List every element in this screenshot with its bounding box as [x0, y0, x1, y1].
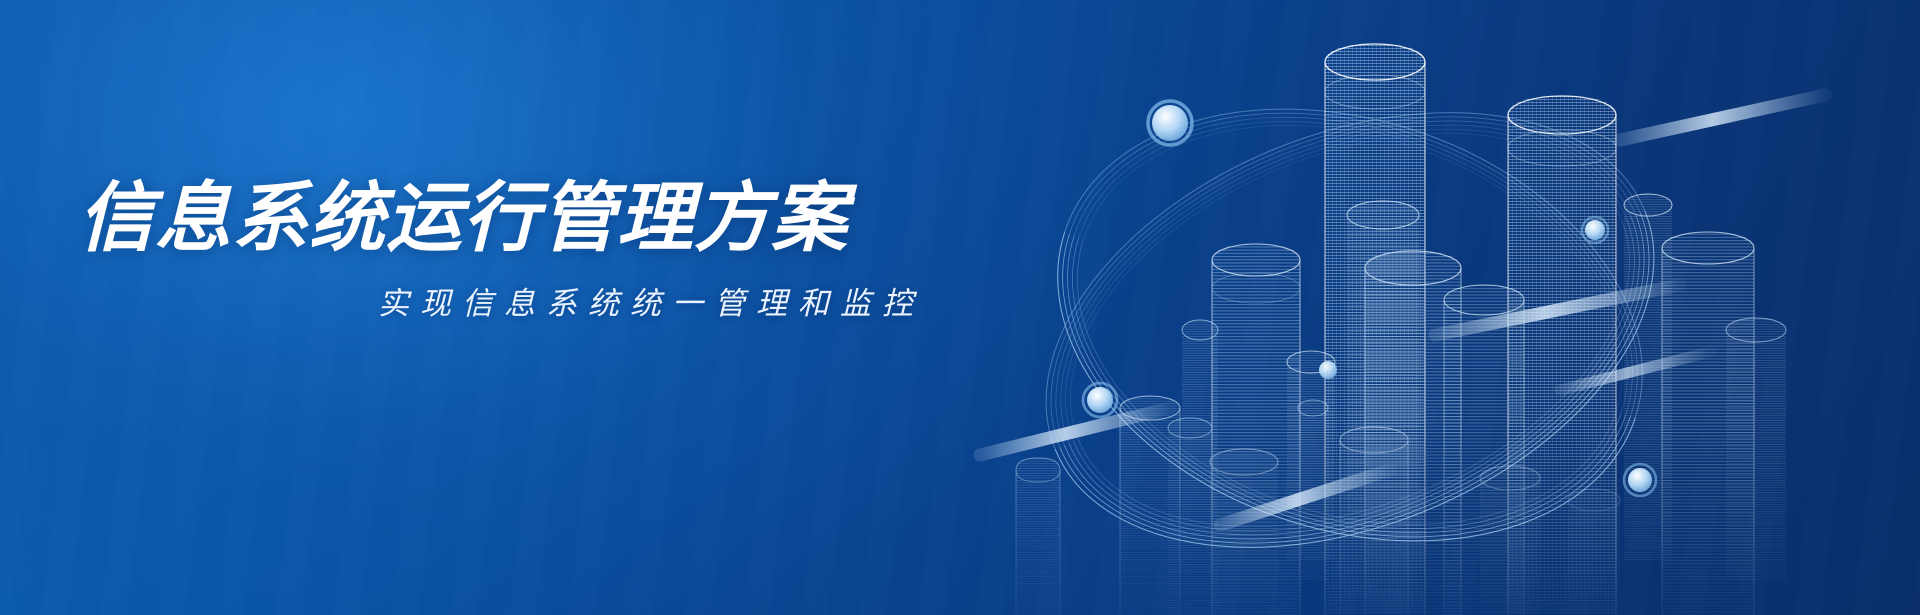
wireframe-city-illustration: [920, 0, 1920, 615]
light-streaks: [980, 95, 1825, 525]
tower-right-slim: [1624, 194, 1672, 560]
tower-fg-right: [1340, 427, 1408, 615]
page-title: 信息系统运行管理方案: [78, 178, 958, 260]
tower-center-peak: [1325, 44, 1425, 615]
tower-center-second: [1365, 251, 1461, 615]
tower-right-tall: [1508, 96, 1616, 615]
page-subtitle: 实现信息系统统一管理和监控: [78, 278, 958, 323]
hero-text-block: 信息系统运行管理方案 实现信息系统统一管理和监控: [78, 178, 958, 323]
orbit-rings-back: [982, 29, 1719, 615]
tower-center-mid: [1347, 201, 1419, 540]
tower-far-right: [1662, 232, 1754, 615]
tower-fg-rightmost: [1480, 466, 1540, 615]
streak-lower-center: [1220, 470, 1390, 525]
tower-fg-left-two: [1168, 418, 1212, 615]
tower-fg-left-squat: [1120, 396, 1180, 615]
tower-mid-small: [1287, 351, 1335, 560]
tower-left-slim: [1182, 320, 1218, 615]
tower-left-tall: [1212, 244, 1300, 615]
tower-back-left: [1016, 458, 1060, 615]
glow-dot-bottom-right: [1624, 464, 1656, 496]
orbit-rings-front: [1001, 211, 1718, 615]
streak-lower-left: [980, 408, 1170, 455]
glow-dot-left-lower: [1083, 383, 1117, 417]
glow-dots: [1083, 101, 1656, 496]
tower-mid-pillar: [1298, 400, 1328, 580]
tower-far-right-small: [1726, 318, 1786, 580]
streak-mid-right: [1435, 285, 1680, 335]
tower-group: [1016, 44, 1786, 615]
city-svg: [920, 0, 1920, 615]
glow-dot-right-upper: [1582, 217, 1608, 243]
streak-upper-right: [1620, 95, 1825, 140]
tower-between-medium: [1444, 285, 1524, 615]
hero-banner: 信息系统运行管理方案 实现信息系统统一管理和监控: [0, 0, 1920, 615]
glow-dot-top-left: [1148, 101, 1192, 145]
tower-fg-center: [1210, 449, 1278, 615]
tower-cluster-bottom-right: [1568, 489, 1620, 615]
streak-far-right: [1560, 352, 1710, 390]
glow-dot-center-low: [1319, 361, 1337, 379]
